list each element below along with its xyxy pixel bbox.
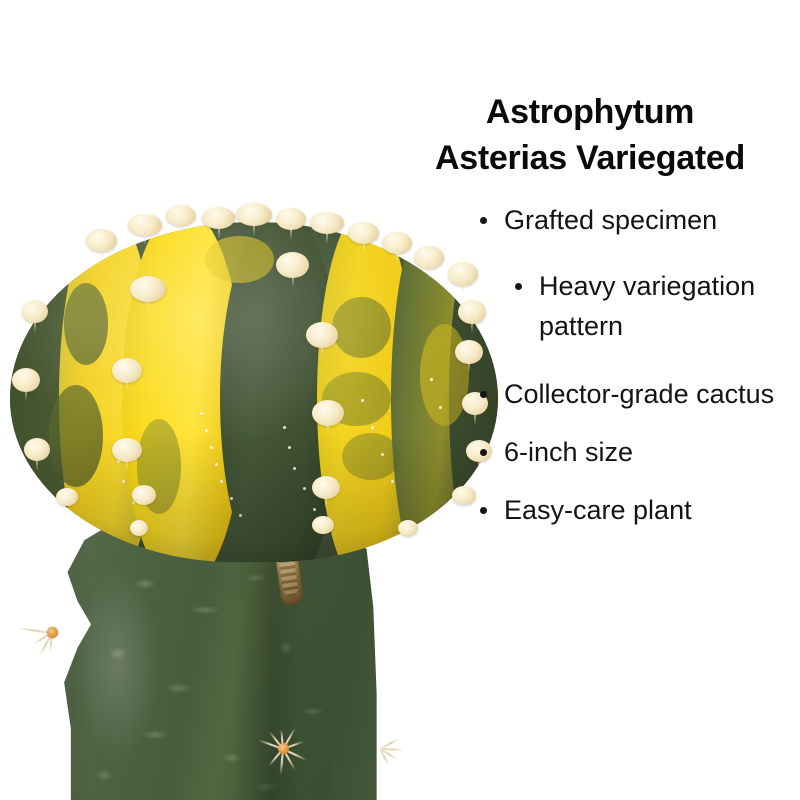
list-item-label: 6-inch size (504, 432, 794, 472)
areole-hub-icon (47, 627, 58, 638)
list-item: Grafted specimen (478, 200, 794, 240)
areole (312, 516, 334, 534)
areole (12, 368, 40, 392)
page-title: Astrophytum Asterias Variegated (380, 89, 800, 181)
list-item: Easy-care plant (478, 490, 794, 530)
areole-hub-icon (278, 743, 289, 754)
areole (236, 203, 272, 226)
bullet-dot-icon (515, 283, 522, 290)
areole (128, 214, 162, 236)
list-item: 6-inch size (478, 432, 794, 472)
areole (312, 476, 340, 499)
areole (312, 400, 344, 426)
bullet-dot-icon (480, 217, 487, 224)
bullet-dot-icon (480, 391, 487, 398)
areole (166, 205, 196, 226)
areole (112, 438, 142, 462)
areole (112, 358, 142, 383)
areole (132, 485, 156, 505)
areole (86, 229, 117, 252)
list-item: Collector-grade cactus (478, 374, 794, 414)
areole (130, 276, 166, 302)
areole (310, 212, 344, 234)
areole (276, 208, 306, 230)
areole (56, 488, 78, 506)
areole (130, 520, 148, 536)
bullet-dot-icon (480, 449, 487, 456)
areole (24, 438, 50, 461)
areole (276, 252, 309, 278)
rootstock-stem (44, 520, 380, 800)
list-item-label: Easy-care plant (504, 490, 794, 530)
bullet-dot-icon (480, 507, 487, 514)
areole (348, 222, 379, 244)
text-column: Astrophytum Asterias Variegated Grafted … (380, 0, 800, 800)
areole (306, 322, 338, 348)
list-item: Heavy variegation pattern (513, 266, 794, 346)
feature-list: Grafted specimen Heavy variegation patte… (478, 200, 794, 548)
list-item-label: Collector-grade cactus (504, 374, 794, 414)
areole (22, 300, 48, 323)
areole (202, 207, 235, 229)
list-item-label: Grafted specimen (504, 200, 794, 240)
title-line-2: Asterias Variegated (380, 135, 800, 181)
title-line-1: Astrophytum (380, 89, 800, 135)
product-card: Astrophytum Asterias Variegated Grafted … (0, 0, 800, 800)
list-item-label: Heavy variegation pattern (539, 266, 794, 346)
